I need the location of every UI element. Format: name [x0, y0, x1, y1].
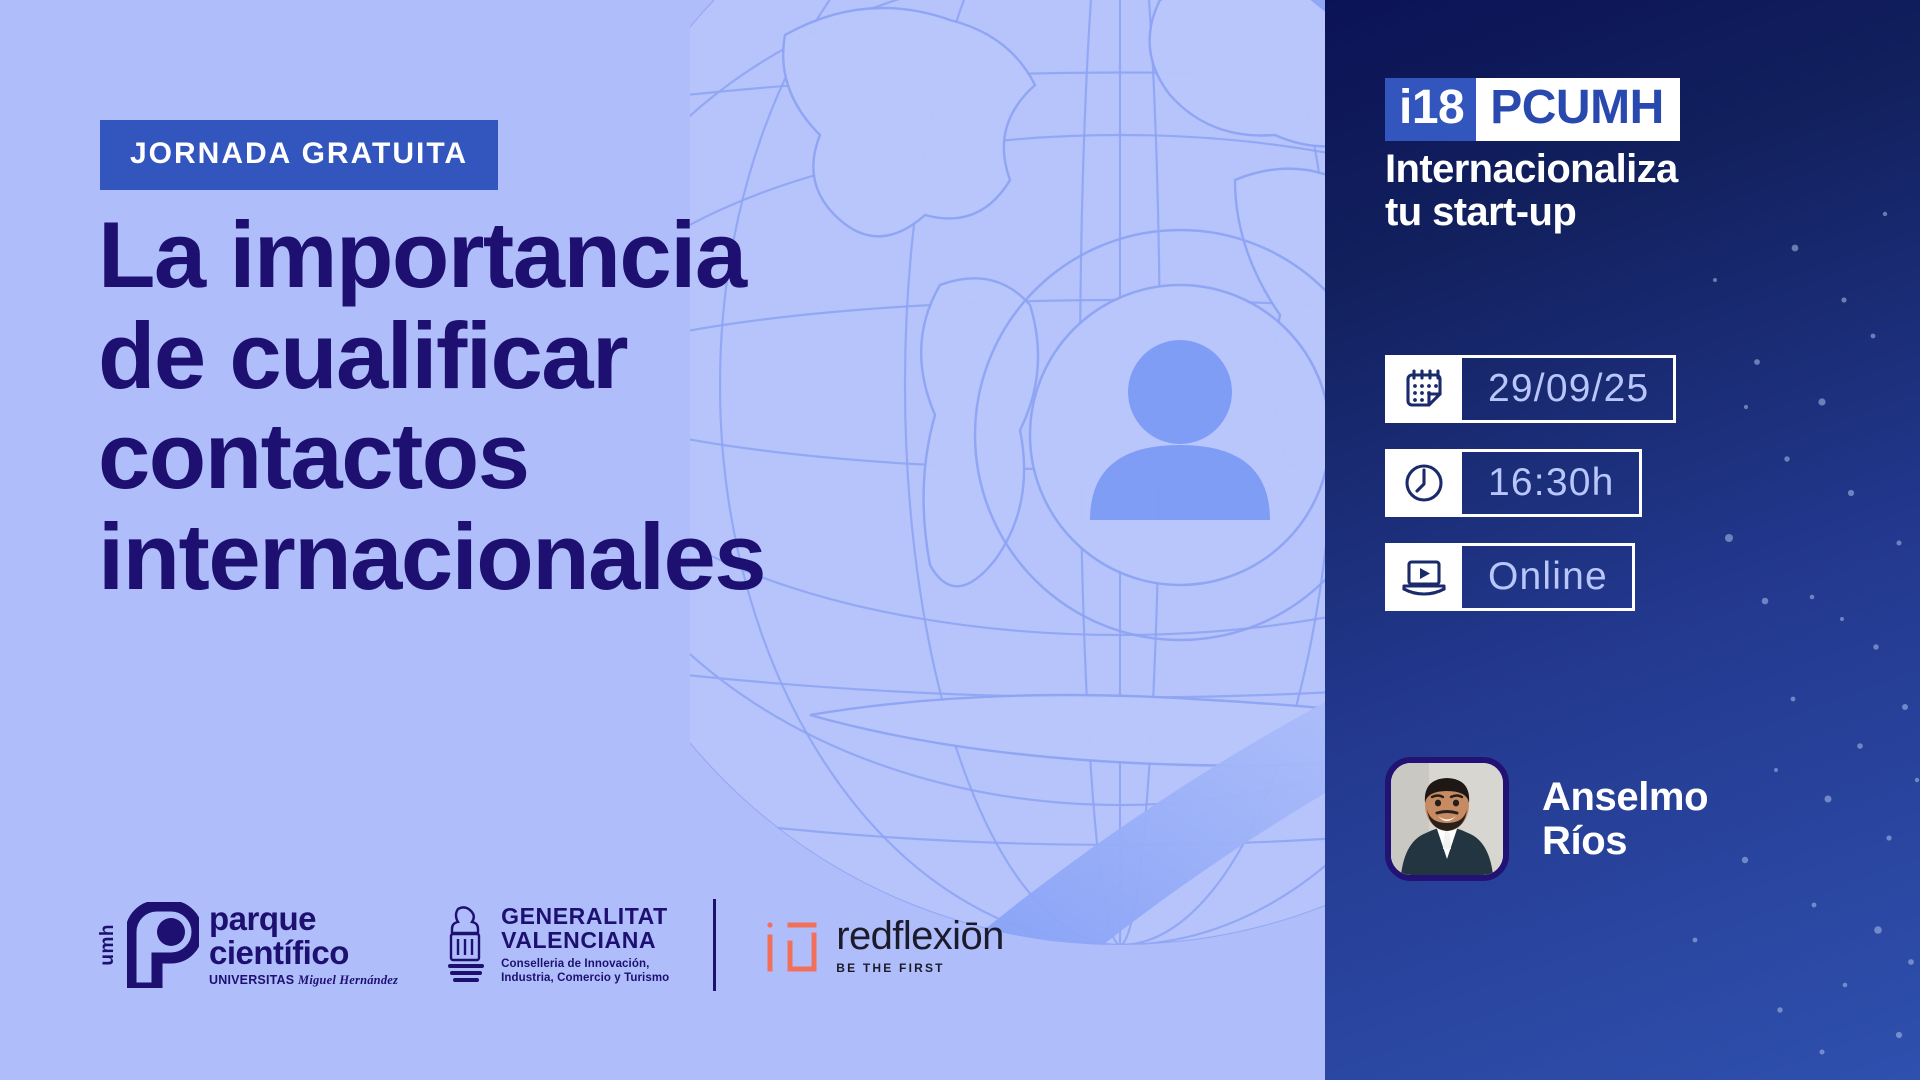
umh-p-monogram [127, 902, 199, 988]
gv-line-3: Conselleria de Innovación, Industria, Co… [501, 957, 669, 986]
redflexion-io-mark [764, 915, 820, 975]
speaker-name-line-1: Anselmo [1542, 775, 1708, 819]
headline-line-2: de cualificar [98, 306, 1278, 407]
redflexion-wordmark: redflexiōn [836, 916, 1003, 956]
event-format-value: Online [1462, 543, 1635, 611]
speaker-portrait [1385, 757, 1509, 881]
calendar-icon [1385, 355, 1462, 423]
pc-line-2: científico [209, 936, 398, 970]
gv-line-1: GENERALITAT [501, 905, 669, 929]
headline-line-1: La importancia [98, 205, 1278, 306]
speaker-name-line-2: Ríos [1542, 819, 1708, 863]
event-date-value: 29/09/25 [1462, 355, 1676, 423]
logo-generalitat-valenciana: GENERALITAT VALENCIANA Conselleria de In… [442, 905, 669, 986]
headline-line-4: internacionales [98, 507, 1278, 608]
pcumh-tag: PCUMH [1476, 78, 1680, 141]
clock-icon [1385, 449, 1462, 517]
generalitat-crest [442, 906, 490, 984]
i18-pcumh-tag: i18 PCUMH [1385, 78, 1680, 141]
event-info-badges: 29/09/25 16:30h [1385, 355, 1676, 637]
i18-tag: i18 [1385, 78, 1476, 141]
event-date-badge: 29/09/25 [1385, 355, 1676, 423]
brand-subtitle-line-2: tu start-up [1385, 191, 1680, 234]
right-info-panel: i18 PCUMH Internacionaliza tu start-up [1325, 0, 1920, 1080]
brand-subtitle-line-1: Internacionaliza [1385, 148, 1680, 191]
umh-vertical-label: umh [98, 924, 117, 966]
event-time-badge: 16:30h [1385, 449, 1676, 517]
left-content-panel: JORNADA GRATUITA La importancia de cuali… [0, 0, 1325, 1080]
badge-label: JORNADA GRATUITA [130, 139, 468, 169]
brand-lockup: i18 PCUMH Internacionaliza tu start-up [1385, 78, 1680, 234]
logo-parque-cientifico-umh: umh parque científico UNIVERSITAS Miguel… [98, 902, 398, 989]
event-time-value: 16:30h [1462, 449, 1642, 517]
speaker-name: Anselmo Ríos [1542, 775, 1708, 863]
speaker-block: Anselmo Ríos [1385, 757, 1708, 881]
jornada-gratuita-badge: JORNADA GRATUITA [100, 120, 498, 190]
sponsor-logo-row: umh parque científico UNIVERSITAS Miguel… [98, 890, 1004, 1000]
logo-redflexion: redflexiōn BE THE FIRST [764, 915, 1003, 975]
page-title: La importancia de cualificar contactos i… [98, 205, 1278, 607]
logo-divider [713, 899, 716, 991]
headline-line-3: contactos [98, 406, 1278, 507]
event-format-badge: Online [1385, 543, 1676, 611]
pc-line-3: UNIVERSITAS Miguel Hernández [209, 973, 398, 988]
redflexion-tagline: BE THE FIRST [836, 961, 1003, 975]
laptop-play-icon [1385, 543, 1462, 611]
pc-line-1: parque [209, 902, 398, 936]
brand-subtitle: Internacionaliza tu start-up [1385, 148, 1680, 234]
event-promo-banner: JORNADA GRATUITA La importancia de cuali… [0, 0, 1920, 1080]
gv-line-2: VALENCIANA [501, 929, 669, 953]
